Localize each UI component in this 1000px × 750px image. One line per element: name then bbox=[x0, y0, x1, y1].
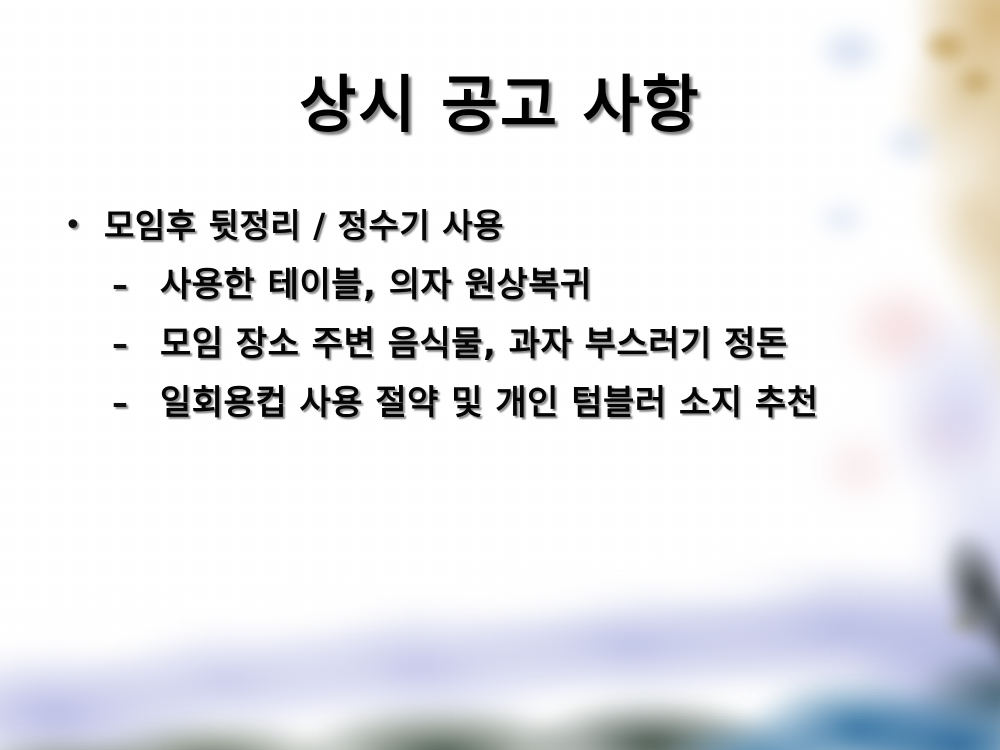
bullet-item-level1: • 모임후 뒷정리 / 정수기 사용 bbox=[52, 203, 962, 249]
slide-content: 상시 공고 사항 • 모임후 뒷정리 / 정수기 사용 – 사용한 테이블, 의… bbox=[0, 0, 1000, 750]
sub-bullet-list: – 사용한 테이블, 의자 원상복귀 – 모임 장소 주변 음식물, 과자 부스… bbox=[52, 261, 962, 427]
bullet-dash-icon: – bbox=[52, 320, 160, 368]
bullet-item-level2: – 모임 장소 주변 음식물, 과자 부스러기 정돈 bbox=[52, 320, 962, 368]
bullet-list: • 모임후 뒷정리 / 정수기 사용 – 사용한 테이블, 의자 원상복귀 – … bbox=[52, 203, 962, 438]
slide-title: 상시 공고 사항 bbox=[0, 72, 1000, 137]
bullet-item-level2: – 사용한 테이블, 의자 원상복귀 bbox=[52, 261, 962, 309]
presentation-slide: 상시 공고 사항 • 모임후 뒷정리 / 정수기 사용 – 사용한 테이블, 의… bbox=[0, 0, 1000, 750]
bullet-item-level2-label: 사용한 테이블, 의자 원상복귀 bbox=[160, 261, 592, 309]
bullet-dash-icon: – bbox=[52, 379, 160, 427]
bullet-item-level2-label: 일회용컵 사용 절약 및 개인 텀블러 소지 추천 bbox=[160, 379, 818, 427]
bullet-item-level2-label: 모임 장소 주변 음식물, 과자 부스러기 정돈 bbox=[160, 320, 788, 368]
bullet-dot-icon: • bbox=[52, 203, 104, 249]
bullet-item-level2: – 일회용컵 사용 절약 및 개인 텀블러 소지 추천 bbox=[52, 379, 962, 427]
bullet-item-level1-label: 모임후 뒷정리 / 정수기 사용 bbox=[104, 203, 504, 249]
bullet-dash-icon: – bbox=[52, 261, 160, 309]
